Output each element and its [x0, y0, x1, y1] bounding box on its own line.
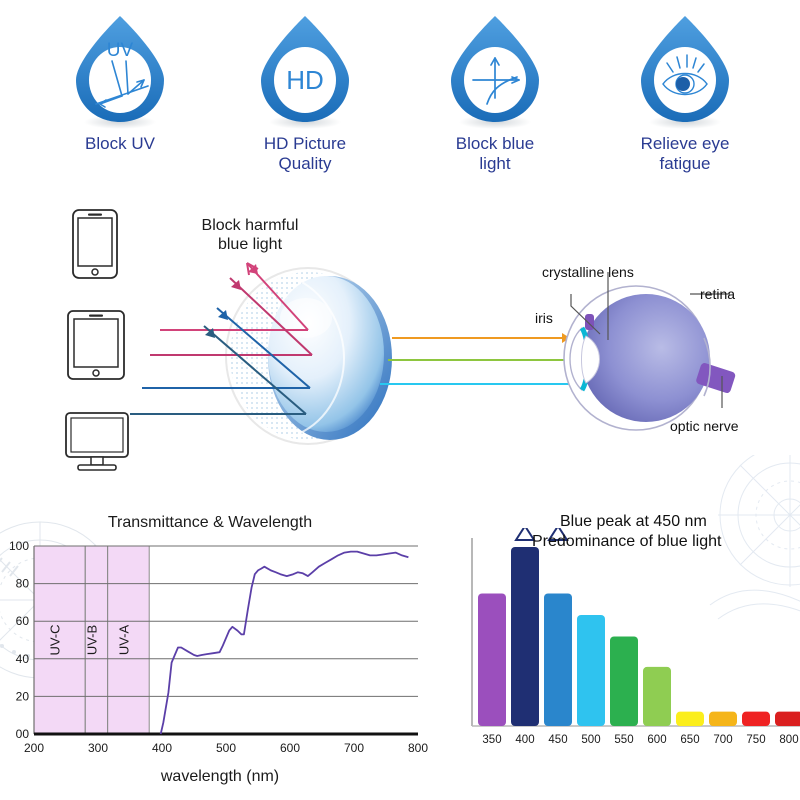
x-tick-label: 800 — [408, 741, 428, 755]
feature-label: Block blue light — [395, 134, 595, 174]
bar — [742, 712, 770, 726]
transmittance-line — [161, 552, 409, 734]
x-tick-label: 300 — [88, 741, 108, 755]
x-tick-label: 400 — [152, 741, 172, 755]
transmittance-chart-title: Transmittance & Wavelength — [10, 514, 410, 532]
feature-row: UV Block UV — [0, 8, 800, 198]
transmittance-chart: UV-CUV-BUV-A0020406080100200300400500600… — [0, 538, 440, 778]
bar-x-label: 400 — [515, 734, 534, 746]
bar — [709, 712, 737, 726]
y-tick-label: 80 — [16, 577, 30, 591]
x-tick-label: 700 — [344, 741, 364, 755]
feature-block-blue-light[interactable]: Block blue light — [395, 8, 595, 174]
bar-x-label: 700 — [713, 734, 732, 746]
bar-x-label: 450 — [548, 734, 567, 746]
smartphone-icon — [70, 208, 120, 280]
bar — [511, 547, 539, 726]
bar — [577, 615, 605, 726]
blue-peak-chart: 350400450500550600650700750800 — [450, 528, 800, 768]
illustration-panel: Block harmful blue light — [0, 196, 800, 496]
eyeball-diagram — [564, 286, 736, 430]
blue-light-curve-icon — [435, 8, 555, 128]
bar — [544, 594, 572, 726]
uv-band-label: UV-B — [84, 625, 99, 655]
bar-x-label: 600 — [647, 734, 666, 746]
bar-x-label: 750 — [746, 734, 765, 746]
bar — [478, 594, 506, 726]
charts-panel: Transmittance & Wavelength UV-CUV-BUV-A0… — [0, 500, 800, 800]
poster-canvas: UV Block UV — [0, 0, 800, 800]
x-tick-label: 200 — [24, 741, 44, 755]
feature-relieve-eye-fatigue[interactable]: Relieve eye fatigue — [585, 8, 785, 174]
label-optic-nerve: optic nerve — [670, 418, 738, 434]
y-tick-label: 60 — [16, 614, 30, 628]
y-tick-label: 00 — [16, 727, 30, 741]
monitor-icon — [62, 411, 132, 473]
feature-label: Relieve eye fatigue — [585, 134, 785, 174]
feature-label: HD Picture Quality — [205, 134, 405, 174]
bar — [610, 636, 638, 726]
bar-x-label: 350 — [482, 734, 501, 746]
label-iris: iris — [535, 310, 553, 326]
feature-label: Block UV — [20, 134, 220, 154]
y-tick-label: 20 — [16, 689, 30, 703]
lens-and-rays-diagram — [130, 236, 800, 486]
bar-x-label: 800 — [779, 734, 798, 746]
bar-x-label: 500 — [581, 734, 600, 746]
uv-block-icon: UV — [60, 8, 180, 128]
eye-icon — [625, 8, 745, 128]
uv-band-label: UV-A — [116, 625, 131, 656]
blue-peak-note: Blue peak at 450 nm Predominance of blue… — [560, 512, 721, 552]
label-crystalline-lens: crystalline lens — [542, 264, 634, 280]
y-tick-label: 100 — [9, 539, 29, 553]
transmittance-xlabel: wavelength (nm) — [10, 768, 430, 786]
bar-x-label: 650 — [680, 734, 699, 746]
svg-text:HD: HD — [286, 65, 324, 95]
bar-x-label: 550 — [614, 734, 633, 746]
svg-text:UV: UV — [107, 40, 134, 61]
x-tick-label: 500 — [216, 741, 236, 755]
feature-hd-quality[interactable]: HD HD Picture Quality — [205, 8, 405, 174]
feature-block-uv[interactable]: UV Block UV — [20, 8, 220, 154]
x-tick-label: 600 — [280, 741, 300, 755]
label-retina: retina — [700, 286, 735, 302]
uv-band-label: UV-C — [48, 624, 63, 655]
bar — [643, 667, 671, 726]
bar — [676, 712, 704, 726]
tablet-icon — [65, 309, 127, 381]
hd-quality-icon: HD — [245, 8, 365, 128]
y-tick-label: 40 — [16, 652, 30, 666]
bar — [775, 712, 800, 726]
